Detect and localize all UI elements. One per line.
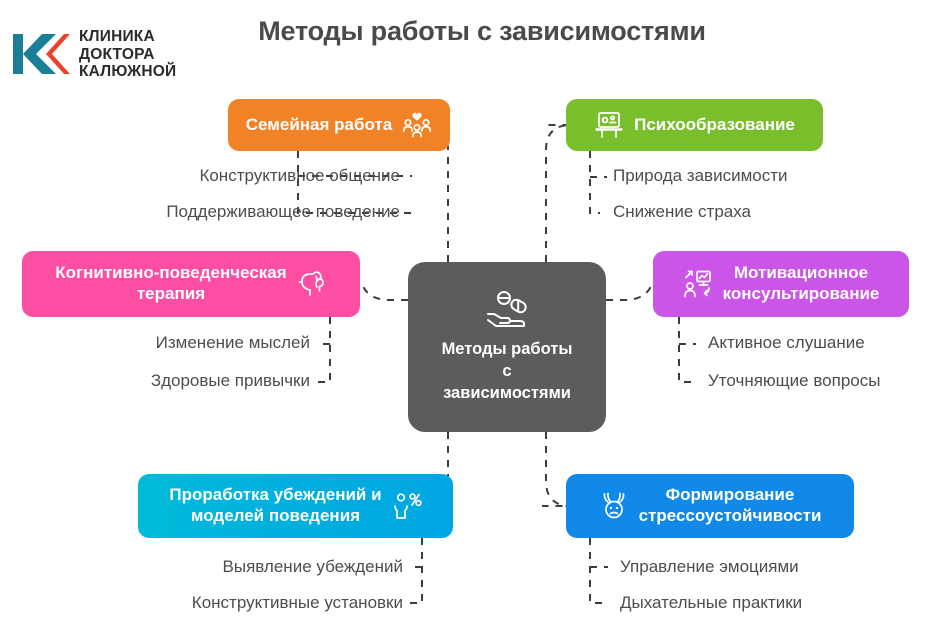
logo-mark-icon <box>12 32 70 76</box>
leaf-label: Дыхательные практики <box>620 594 802 611</box>
branch-node-motiv-label-line1: Мотивационное <box>734 263 868 282</box>
branch-node-beliefs-label: Проработка убеждений и моделей поведения <box>169 485 381 526</box>
branch-node-motiv-label: Мотивационное консультирование <box>723 263 880 304</box>
head-brain-hand-icon <box>297 269 327 299</box>
branch-node-beliefs[interactable]: Проработка убеждений и моделей поведения <box>138 474 453 538</box>
branch-node-beliefs-label-line1: Проработка убеждений и <box>169 485 381 504</box>
leaf-label: Выявление убеждений <box>0 558 403 575</box>
center-node-label-line1: Методы работы <box>442 338 573 360</box>
leaf-label: Конструктивное общение <box>0 167 400 184</box>
diagram-canvas: КЛИНИКА ДОКТОРА КАЛЮЖНОЙ Методы работы с… <box>0 0 948 634</box>
center-node-label-line3: зависимостями <box>442 382 573 404</box>
connector-motiv-leaves <box>679 317 696 382</box>
branch-node-motiv[interactable]: Мотивационное консультирование <box>653 251 909 317</box>
branch-node-family[interactable]: Семейная работа <box>228 99 450 151</box>
branch-node-motiv-label-line2: консультирование <box>723 284 880 303</box>
logo-line-3: КАЛЮЖНОЙ <box>79 63 176 81</box>
logo-line-2: ДОКТОРА <box>79 46 176 64</box>
leaf-label: Изменение мыслей <box>0 334 310 351</box>
family-heart-icon <box>402 110 432 140</box>
branch-node-cbt-label-line1: Когнитивно-поведенческая <box>55 263 286 282</box>
logo-line-1: КЛИНИКА <box>79 28 176 46</box>
logo-wordmark: КЛИНИКА ДОКТОРА КАЛЮЖНОЙ <box>79 28 176 81</box>
clinic-logo: КЛИНИКА ДОКТОРА КАЛЮЖНОЙ <box>12 28 176 81</box>
branch-node-stress-label-line2: стрессоустойчивости <box>639 506 822 525</box>
branch-node-stress-label: Формирование стрессоустойчивости <box>639 485 822 526</box>
leaf-label: Конструктивные установки <box>0 594 403 611</box>
branch-node-stress[interactable]: Формирование стрессоустойчивости <box>566 474 854 538</box>
person-percent-icon <box>392 491 422 521</box>
branch-node-beliefs-label-line2: моделей поведения <box>191 506 360 525</box>
presentation-board-icon <box>594 110 624 140</box>
stressed-face-icon <box>599 491 629 521</box>
leaf-label: Здоровые привычки <box>0 372 310 389</box>
branch-node-psycho-label: Психообразование <box>634 115 795 136</box>
hand-pills-icon <box>484 290 530 330</box>
center-node[interactable]: Методы работы с зависимостями <box>408 262 606 432</box>
branch-node-cbt[interactable]: Когнитивно-поведенческая терапия <box>22 251 360 317</box>
leaf-label: Природа зависимости <box>613 167 788 184</box>
connector-cbt-leaves <box>318 317 330 382</box>
branch-node-cbt-label: Когнитивно-поведенческая терапия <box>55 263 286 304</box>
leaf-label: Управление эмоциями <box>620 558 799 575</box>
leaf-label: Поддерживающее поведение <box>0 203 400 220</box>
person-chart-arrows-icon <box>683 269 713 299</box>
leaf-label: Уточняющие вопросы <box>708 372 880 389</box>
connector-beliefs-leaves <box>408 538 422 603</box>
leaf-label: Активное слушание <box>708 334 865 351</box>
connector-stress-leaves <box>590 538 608 603</box>
leaf-label: Снижение страха <box>613 203 751 220</box>
page-title: Методы работы с зависимостями <box>222 16 742 47</box>
branch-node-family-label: Семейная работа <box>246 115 392 136</box>
branch-node-stress-label-line1: Формирование <box>666 485 795 504</box>
center-node-label-line2: с <box>442 360 573 382</box>
connector-center-cbt <box>362 284 408 300</box>
connector-center-motiv <box>606 284 652 300</box>
branch-node-cbt-label-line2: терапия <box>137 284 205 303</box>
center-node-label: Методы работы с зависимостями <box>442 338 573 405</box>
connector-psycho-leaves <box>590 151 600 213</box>
branch-node-psycho[interactable]: Психообразование <box>566 99 823 151</box>
